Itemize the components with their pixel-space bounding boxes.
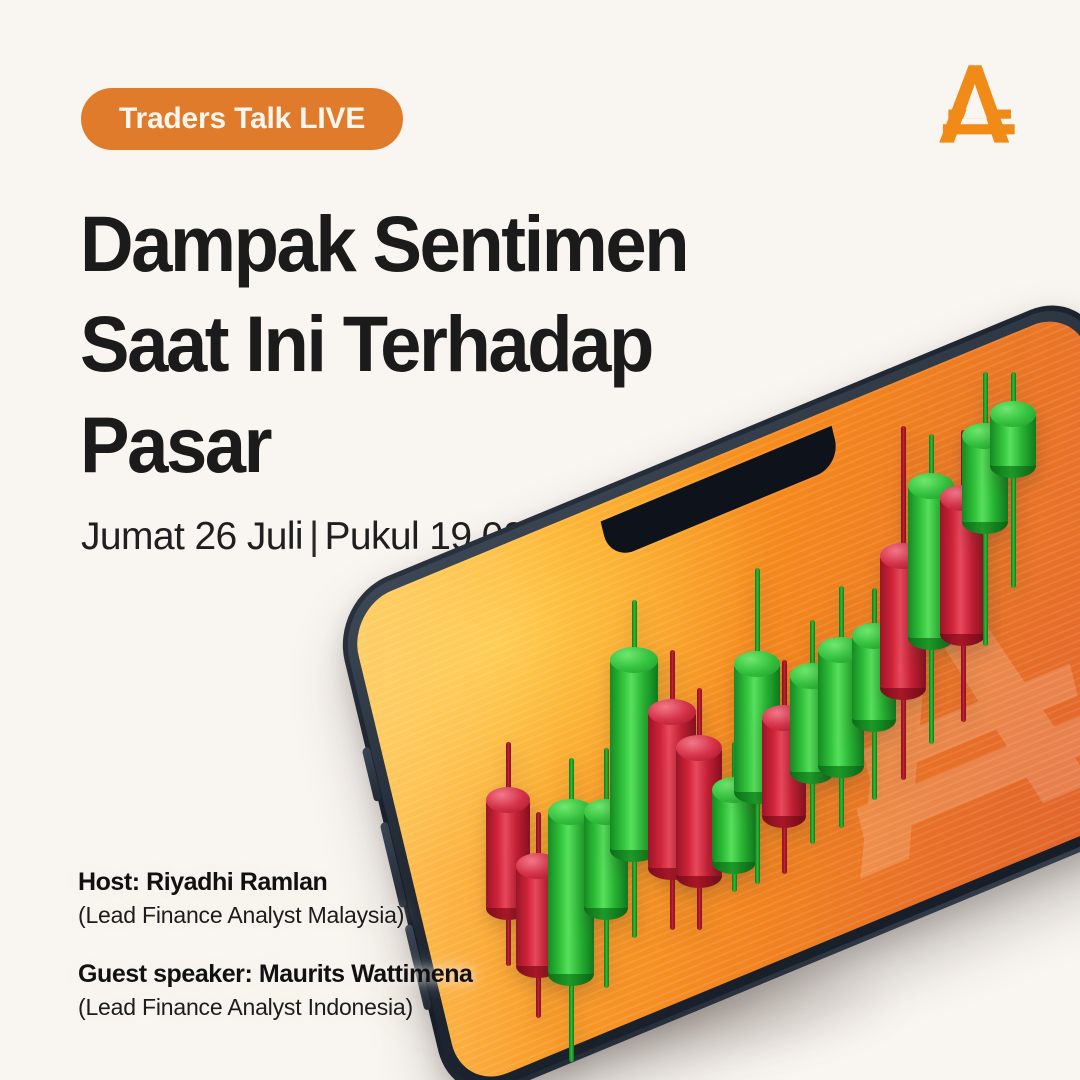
candlestick-body (962, 436, 1008, 522)
candlestick-body-base (648, 856, 696, 880)
candlestick-wick (506, 742, 511, 966)
candlestick-body-base (852, 708, 896, 732)
candlestick-body-base (610, 838, 658, 862)
candlestick-body-cap (712, 777, 756, 803)
candlestick-body-cap (734, 651, 780, 677)
headline-line-1: Dampak Sentimen (80, 194, 794, 294)
candlestick-body-cap (486, 787, 530, 813)
credit-guest-name: Guest speaker: Maurits Wattimena (78, 958, 473, 991)
candlestick-body-base (990, 454, 1036, 478)
schedule-line: Jumat 26 Juli|Pukul 19.00 WIB (81, 515, 606, 559)
candlestick-18-up (990, 372, 1036, 588)
headline-line-2: Saat Ini Terhadap (80, 294, 794, 394)
live-badge: Traders Talk LIVE (81, 88, 403, 150)
candlestick-body-cap (584, 799, 628, 825)
credit-host-role: (Lead Finance Analyst Malaysia) (78, 899, 473, 932)
candlestick-body-tube (648, 712, 696, 868)
candlestick-wick (872, 588, 877, 800)
candlestick-body-base (790, 760, 834, 784)
candlestick-wick (697, 688, 702, 930)
candlestick-body (712, 790, 756, 862)
candlestick-wick (901, 426, 906, 780)
candlestick-7-down (676, 688, 722, 930)
candlestick-wick (632, 600, 637, 938)
candlestick-body-tube (940, 498, 986, 634)
phone-mute-button (362, 746, 382, 802)
candlestick-wick (961, 430, 966, 722)
candlestick-body-tube (610, 660, 658, 850)
candlestick-1-down (486, 742, 530, 966)
candlestick-body-cap (852, 623, 896, 649)
candlestick-17-up (962, 372, 1008, 646)
candlestick-body-tube (712, 790, 756, 862)
candlestick-body-base (676, 864, 722, 888)
candlestick-9-up (734, 568, 780, 884)
candlestick-body (486, 800, 530, 908)
candlestick-body (676, 748, 722, 876)
candlestick-wick (983, 372, 988, 646)
candlestick-4-up (584, 748, 628, 988)
page-title: Dampak Sentimen Saat Ini Terhadap Pasar (80, 194, 840, 495)
candlestick-body (584, 812, 628, 908)
schedule-date: Jumat 26 Juli (81, 515, 303, 558)
candlestick-body (610, 660, 658, 850)
candlestick-10-down (762, 660, 806, 874)
schedule-time: Pukul 19.00 WIB (325, 515, 606, 558)
candlestick-wick (929, 434, 934, 744)
candlestick-body-cap (962, 423, 1008, 449)
candlestick-2-down (516, 812, 560, 1018)
candlestick-wick (536, 812, 541, 1018)
candlestick-14-down (880, 426, 926, 780)
headline-line-3: Pasar (80, 395, 794, 495)
candlestick-body-base (548, 962, 594, 986)
candlestick-body-cap (516, 853, 560, 879)
candlestick-body-tube (486, 800, 530, 908)
candlestick-body-cap (818, 637, 864, 663)
credit-guest-role: (Lead Finance Analyst Indonesia) (78, 991, 473, 1024)
candlestick-body-tube (962, 436, 1008, 522)
candlestick-body-base (516, 954, 560, 978)
candlestick-body-base (762, 804, 806, 828)
candlestick-wick (569, 758, 574, 1062)
austral-a-logo (930, 58, 1022, 150)
candlestick-12-up (818, 586, 864, 828)
candlestick-body-base (908, 626, 954, 650)
candlestick-wick (782, 660, 787, 874)
candlestick-body-cap (676, 735, 722, 761)
credit-guest: Guest speaker: Maurits Wattimena (Lead F… (78, 958, 473, 1024)
candlestick-5-up (610, 600, 658, 938)
candlestick-wick (604, 748, 609, 988)
candlestick-body-tube (734, 664, 780, 792)
candlestick-body-base (734, 780, 780, 804)
candlestick-body-cap (610, 647, 658, 673)
candlestick-body (516, 866, 560, 966)
candlestick-body-cap (908, 473, 954, 499)
candlestick-body (908, 486, 954, 638)
candlestick-body (762, 718, 806, 816)
candlestick-body-cap (648, 699, 696, 725)
candlestick-wick (755, 568, 760, 884)
candlestick-wick (810, 620, 815, 844)
candlestick-body (880, 556, 926, 688)
credit-host: Host: Riyadhi Ramlan (Lead Finance Analy… (78, 866, 473, 932)
candlestick-body-tube (516, 866, 560, 966)
candlestick-body-tube (818, 650, 864, 766)
candlestick-6-down (648, 650, 696, 930)
candlestick-body (548, 812, 594, 974)
candlestick-13-up (852, 588, 896, 800)
candlestick-body (790, 676, 834, 772)
candlestick-body-base (584, 896, 628, 920)
candlestick-body-cap (762, 705, 806, 731)
candlestick-body-cap (790, 663, 834, 689)
candlestick-body-base (880, 676, 926, 700)
speaker-credits: Host: Riyadhi Ramlan (Lead Finance Analy… (78, 866, 473, 1025)
candlestick-8-up (712, 742, 756, 892)
candlestick-body-tube (908, 486, 954, 638)
candlestick-body-tube (790, 676, 834, 772)
candlestick-body-tube (990, 414, 1036, 466)
candlestick-wick (839, 586, 844, 828)
candlestick-11-up (790, 620, 834, 844)
promo-card: Traders Talk LIVE Dampak Sentimen Saat I… (0, 0, 1080, 1080)
live-badge-label: Traders Talk LIVE (119, 102, 365, 136)
credit-host-name: Host: Riyadhi Ramlan (78, 866, 473, 899)
candlestick-body-base (940, 622, 986, 646)
candlestick-body-base (712, 850, 756, 874)
candlestick-body-tube (548, 812, 594, 974)
candlestick-body-cap (880, 543, 926, 569)
candlestick-body (648, 712, 696, 868)
candlestick-wick (732, 742, 737, 892)
candlestick-15-up (908, 434, 954, 744)
candlestick-body (990, 414, 1036, 466)
candlestick-body-cap (940, 485, 986, 511)
candlestick-body-cap (990, 401, 1036, 427)
candlestick-body-tube (762, 718, 806, 816)
candlestick-body (940, 498, 986, 634)
candlestick-body-tube (676, 748, 722, 876)
candlestick-body-tube (880, 556, 926, 688)
candlestick-body-base (962, 510, 1008, 534)
candlestick-wick (670, 650, 675, 930)
candlestick-wick (1011, 372, 1016, 588)
candlestick-3-up (548, 758, 594, 1062)
candlestick-body-base (486, 896, 530, 920)
candlestick-body (852, 636, 896, 720)
candlestick-16-down (940, 430, 986, 722)
schedule-separator: | (303, 515, 325, 558)
screen-watermark-logo-icon (758, 466, 1080, 917)
candlestick-body-cap (548, 799, 594, 825)
candlestick-body-tube (584, 812, 628, 908)
candlestick-body-tube (852, 636, 896, 720)
candlestick-body (818, 650, 864, 766)
candlestick-body-base (818, 754, 864, 778)
candlestick-body (734, 664, 780, 792)
